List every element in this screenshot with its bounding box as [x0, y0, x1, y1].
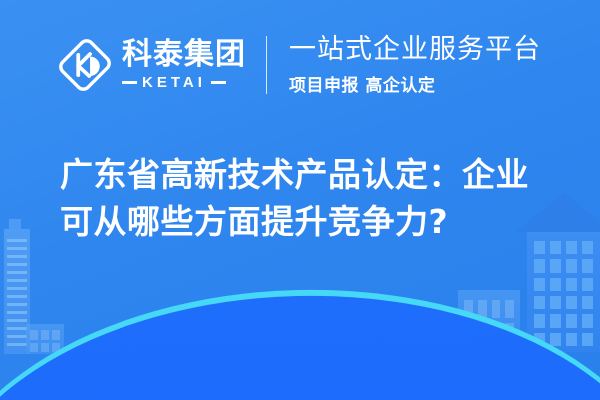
slogan-secondary: 项目申报 高企认定 — [289, 71, 541, 96]
brand-name-cn: 科泰集团 — [122, 40, 246, 70]
slogan-block: 一站式企业服务平台 项目申报 高企认定 — [289, 34, 541, 96]
slogan-primary: 一站式企业服务平台 — [289, 34, 541, 65]
page-title: 广东省高新技术产品认定：企业可从哪些方面提升竞争力? — [60, 152, 560, 246]
brand-logo-text: 科泰集团 KETAI — [122, 40, 246, 90]
dash-left-icon — [122, 81, 137, 84]
brand-name-en: KETAI — [142, 75, 206, 90]
ketai-diamond-monogram-icon — [58, 38, 112, 92]
promo-banner: 科泰集团 KETAI 一站式企业服务平台 项目申报 高企认定 广东省高新技术产品… — [0, 0, 600, 400]
arc-fill — [0, 287, 600, 400]
dash-right-icon — [211, 81, 226, 84]
skyscraper-left-antenna-icon — [9, 219, 21, 229]
banner-header: 科泰集团 KETAI 一站式企业服务平台 项目申报 高企认定 — [0, 0, 600, 130]
brand-logo[interactable]: 科泰集团 KETAI — [58, 38, 246, 92]
header-divider — [266, 36, 267, 94]
brand-name-en-row: KETAI — [122, 75, 246, 90]
bottom-arc-decoration — [0, 310, 600, 400]
